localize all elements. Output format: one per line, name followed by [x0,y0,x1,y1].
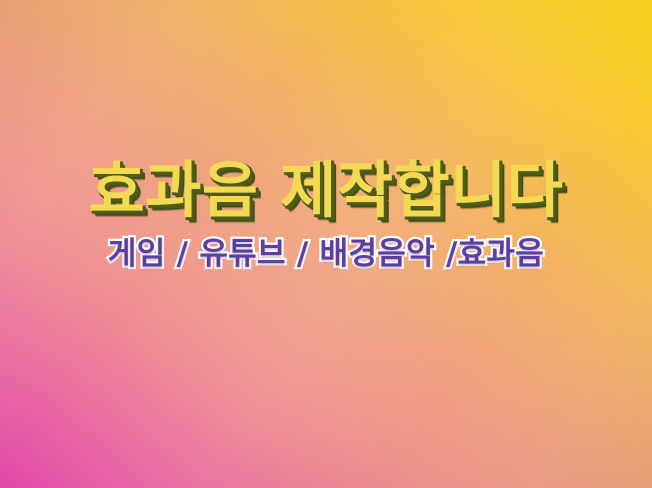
banner-text-block: 효과음 제작합니다 게임 / 유튜브 / 배경음악 /효과음 [0,160,652,271]
banner-subheadline: 게임 / 유튜브 / 배경음악 /효과음 [0,238,652,271]
banner-headline: 효과음 제작합니다 [0,160,652,222]
promo-banner: 효과음 제작합니다 게임 / 유튜브 / 배경음악 /효과음 [0,0,652,488]
